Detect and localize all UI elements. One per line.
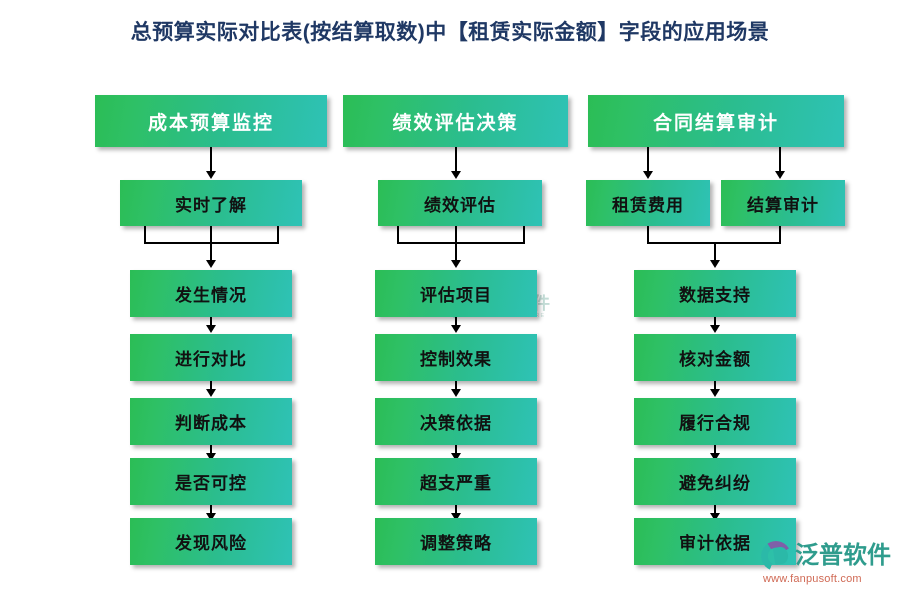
node-c3-second-1[interactable]: 结算审计 (721, 180, 845, 226)
node-c1-4[interactable]: 发现风险 (130, 518, 292, 565)
node-c3-4[interactable]: 审计依据 (634, 518, 796, 565)
node-c2-second-0[interactable]: 绩效评估 (378, 180, 542, 226)
node-c2-0[interactable]: 评估项目 (375, 270, 537, 317)
flowchart-canvas: 总预算实际对比表(按结算取数)中【租赁实际金额】字段的应用场景 泛普软件 FAN… (0, 0, 900, 600)
column-header-contract-settlement-audit[interactable]: 合同结算审计 (588, 95, 844, 147)
node-c2-3[interactable]: 超支严重 (375, 458, 537, 505)
arrowhead-c1-1-2 (206, 389, 216, 397)
column-header-cost-budget-monitoring[interactable]: 成本预算监控 (95, 95, 327, 147)
arrowhead-c3-header-to-left (643, 171, 653, 179)
node-c3-1[interactable]: 核对金额 (634, 334, 796, 381)
node-c2-1[interactable]: 控制效果 (375, 334, 537, 381)
arrowhead-c2-bracket (451, 260, 461, 268)
arrowhead-c2-1-2 (451, 389, 461, 397)
node-c1-second-0[interactable]: 实时了解 (120, 180, 302, 226)
connector-c2-bracket-bar (397, 242, 525, 244)
node-c1-0[interactable]: 发生情况 (130, 270, 292, 317)
connector-c2-bracket-drop (455, 226, 457, 264)
arrowhead-c3-merge (710, 260, 720, 268)
company-logo-name: 泛普软件 (795, 544, 891, 568)
node-c3-3[interactable]: 避免纠纷 (634, 458, 796, 505)
arrowhead-c3-1-2 (710, 389, 720, 397)
arrowhead-c2-header-to-second (451, 171, 461, 179)
connector-c1-bracket-drop (210, 226, 212, 264)
node-c1-1[interactable]: 进行对比 (130, 334, 292, 381)
arrowhead-c1-bracket (206, 260, 216, 268)
node-c2-2[interactable]: 决策依据 (375, 398, 537, 445)
node-c3-2[interactable]: 履行合规 (634, 398, 796, 445)
page-title: 总预算实际对比表(按结算取数)中【租赁实际金额】字段的应用场景 (0, 16, 900, 46)
arrowhead-c3-0-1 (710, 325, 720, 333)
company-logo-url: www.fanpusoft.com (763, 573, 862, 585)
arrowhead-c1-header-to-second (206, 171, 216, 179)
arrowhead-c1-0-1 (206, 325, 216, 333)
arrowhead-c2-0-1 (451, 325, 461, 333)
arrowhead-c3-header-to-right (775, 171, 785, 179)
node-c3-second-0[interactable]: 租赁费用 (586, 180, 710, 226)
node-c3-0[interactable]: 数据支持 (634, 270, 796, 317)
column-header-performance-evaluation-decision[interactable]: 绩效评估决策 (343, 95, 568, 147)
node-c1-2[interactable]: 判断成本 (130, 398, 292, 445)
node-c1-3[interactable]: 是否可控 (130, 458, 292, 505)
node-c2-4[interactable]: 调整策略 (375, 518, 537, 565)
